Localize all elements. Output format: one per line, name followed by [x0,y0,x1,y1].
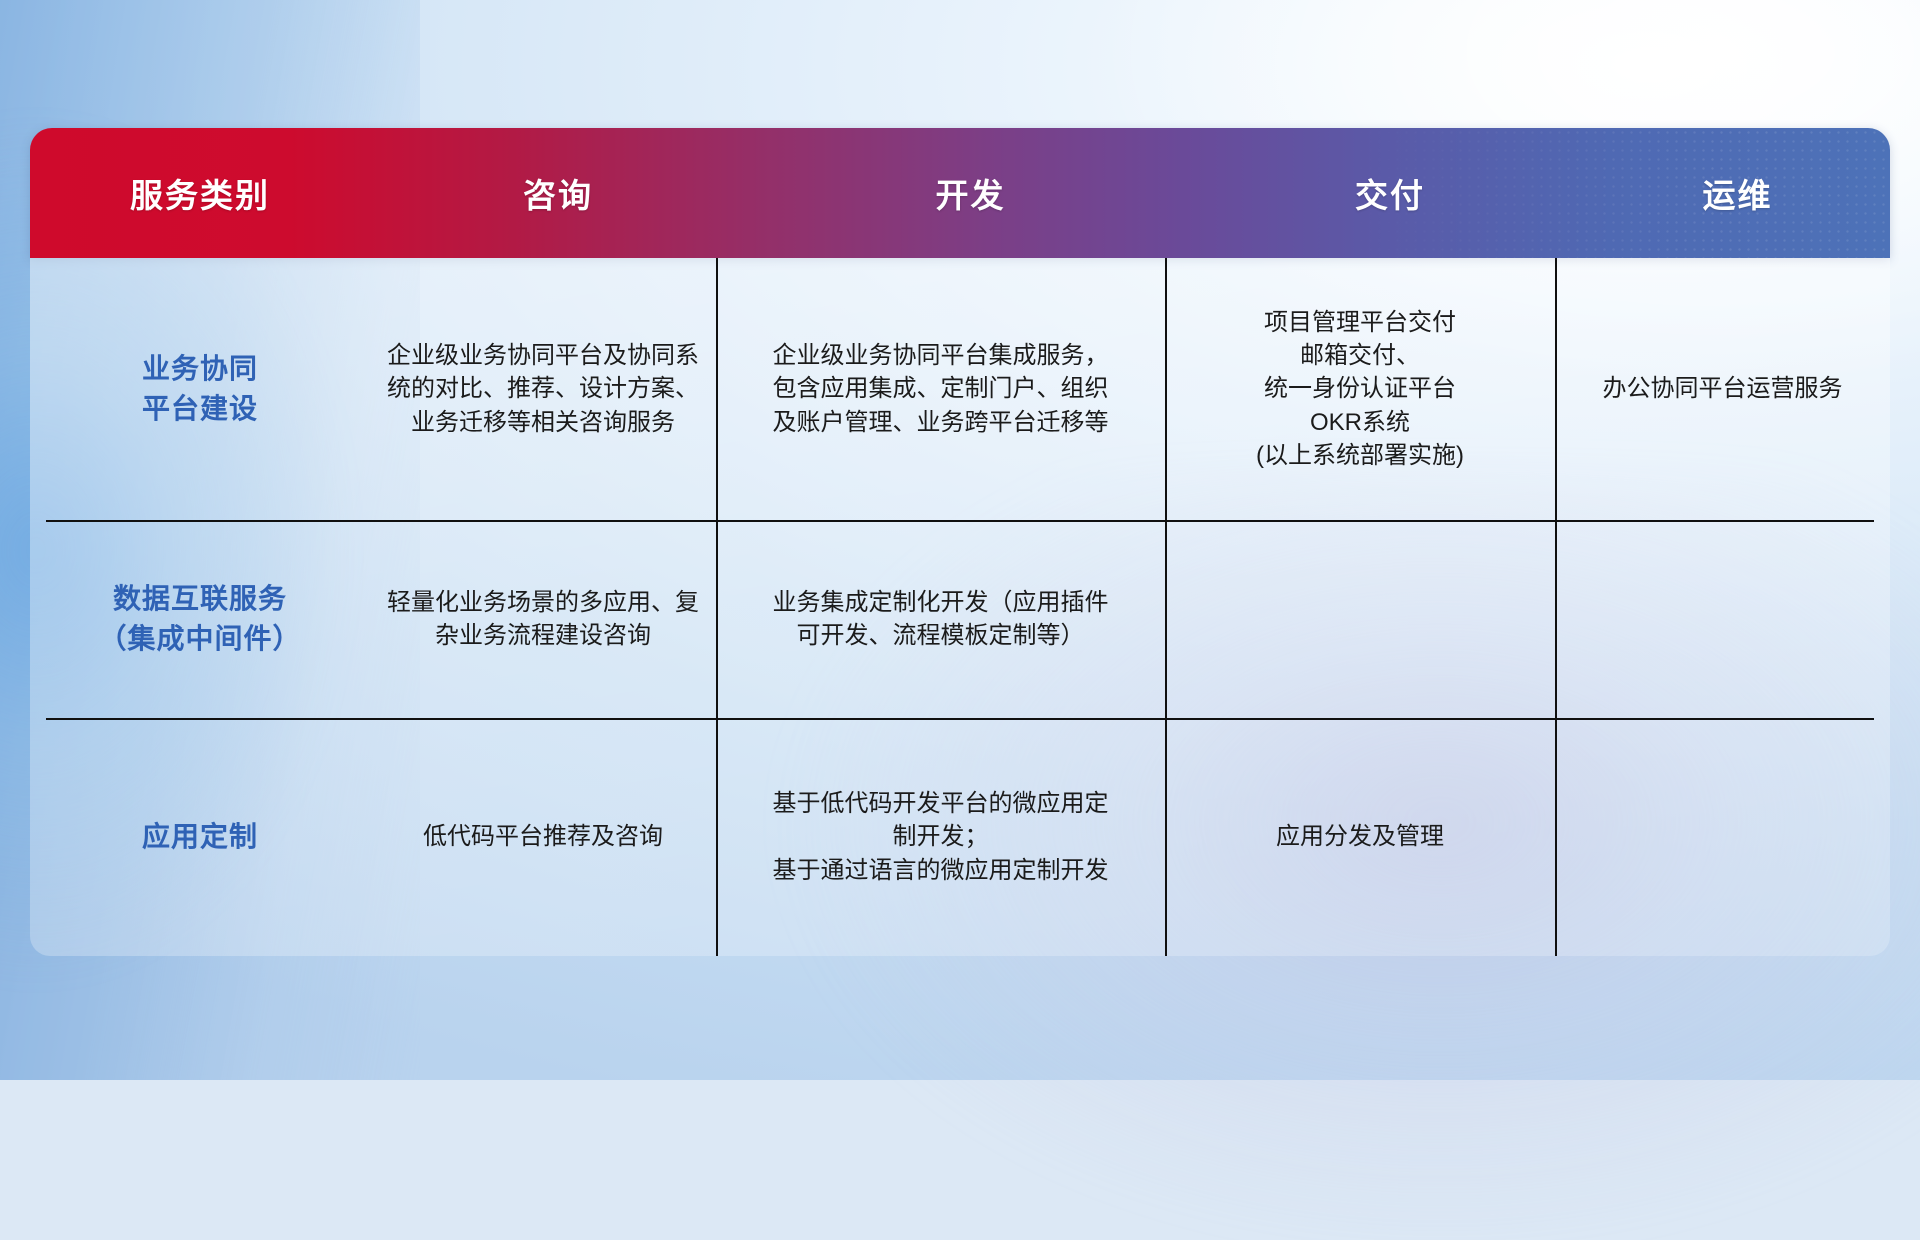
column-header-consulting: 咨询 [370,169,746,217]
cell-row1-delivery: 项目管理平台交付 邮箱交付、 统一身份认证平台 OKR系统 (以上系统部署实施) [1165,258,1555,520]
cell-row3-development: 基于低代码开发平台的微应用定 制开发； 基于通过语言的微应用定制开发 [716,718,1165,956]
cell-row2-operations [1555,520,1890,718]
column-header-operations: 运维 [1585,169,1890,217]
column-header-category: 服务类别 [30,169,370,217]
cell-row2-delivery [1165,520,1555,718]
cell-row2-consulting: 轻量化业务场景的多应用、复 杂业务流程建设咨询 [370,520,716,718]
table-row: 应用定制 低代码平台推荐及咨询 基于低代码开发平台的微应用定 制开发； 基于通过… [30,718,1890,956]
table-row: 业务协同 平台建设 企业级业务协同平台及协同系 统的对比、推荐、设计方案、 业务… [30,258,1890,520]
cell-row3-consulting: 低代码平台推荐及咨询 [370,718,716,956]
cell-row1-development: 企业级业务协同平台集成服务， 包含应用集成、定制门户、组织 及账户管理、业务跨平… [716,258,1165,520]
service-matrix-table: 服务类别 咨询 开发 交付 运维 业务协同 平台建设 企业级业务协同平台及协同系… [30,128,1890,956]
cell-row1-operations: 办公协同平台运营服务 [1555,258,1890,520]
cell-row3-delivery: 应用分发及管理 [1165,718,1555,956]
cell-row2-development: 业务集成定制化开发（应用插件 可开发、流程模板定制等） [716,520,1165,718]
table-header-row: 服务类别 咨询 开发 交付 运维 [30,128,1890,258]
row-label-data-interconnect: 数据互联服务 （集成中间件） [30,520,370,718]
column-header-delivery: 交付 [1195,169,1585,217]
cell-row3-operations [1555,718,1890,956]
row-label-business-collaboration: 业务协同 平台建设 [30,258,370,520]
row-label-app-customization: 应用定制 [30,718,370,956]
table-row: 数据互联服务 （集成中间件） 轻量化业务场景的多应用、复 杂业务流程建设咨询 业… [30,520,1890,718]
table-body: 业务协同 平台建设 企业级业务协同平台及协同系 统的对比、推荐、设计方案、 业务… [30,258,1890,956]
cell-row1-consulting: 企业级业务协同平台及协同系 统的对比、推荐、设计方案、 业务迁移等相关咨询服务 [370,258,716,520]
column-header-development: 开发 [746,169,1195,217]
